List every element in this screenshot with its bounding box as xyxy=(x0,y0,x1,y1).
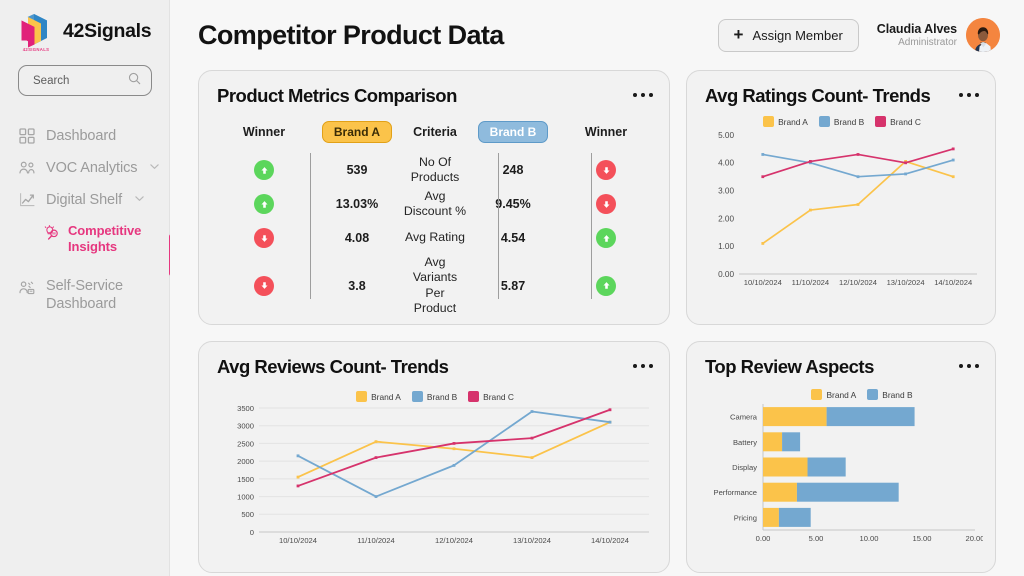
svg-text:2.00: 2.00 xyxy=(718,214,734,223)
sidebar-nav: Dashboard VOC Analytics xyxy=(0,120,169,320)
brand-a-value: 13.03% xyxy=(311,197,403,211)
page-title: Competitor Product Data xyxy=(198,20,718,51)
svg-text:3.00: 3.00 xyxy=(718,187,734,196)
svg-text:20.00: 20.00 xyxy=(965,534,983,543)
avg-reviews-plot: 050010001500200025003000350010/10/202411… xyxy=(217,402,653,552)
top-bar: Competitor Product Data + Assign Member … xyxy=(198,0,1000,70)
legend-label: Brand A xyxy=(826,390,856,400)
brand-b-value: 9.45% xyxy=(467,197,559,211)
brand-b-value: 5.87 xyxy=(467,279,559,293)
winner-right-cell xyxy=(559,160,653,180)
sidebar-item-label: Competitive Insights xyxy=(68,223,161,254)
people-icon xyxy=(18,159,36,177)
chevron-down-icon[interactable] xyxy=(134,192,145,208)
winner-left-cell xyxy=(217,228,311,248)
legend-label: Brand B xyxy=(834,117,864,127)
svg-text:Camera: Camera xyxy=(730,413,758,422)
winner-right-cell xyxy=(559,194,653,214)
legend-swatch xyxy=(468,391,479,402)
svg-text:15.00: 15.00 xyxy=(912,534,931,543)
legend-item[interactable]: Brand C xyxy=(875,116,921,127)
user-name: Claudia Alves xyxy=(877,22,957,36)
arrow-down-icon xyxy=(254,276,274,296)
chart-legend: Brand A Brand B Brand C xyxy=(705,116,979,127)
card-avg-ratings-trends: Avg Ratings Count- Trends Brand A Brand … xyxy=(686,70,996,325)
brand-logo-block: 42SIGNALS 42Signals xyxy=(0,0,169,51)
assign-member-label: Assign Member xyxy=(752,28,842,43)
search-icon xyxy=(128,72,141,90)
comparison-table: Winner Brand A Criteria Brand B Winner xyxy=(217,121,653,301)
search-placeholder: Search xyxy=(33,75,122,87)
svg-text:10/10/2024: 10/10/2024 xyxy=(744,278,782,287)
legend-swatch xyxy=(867,389,878,400)
search-input[interactable]: Search xyxy=(18,65,152,96)
brand-name: 42Signals xyxy=(63,20,151,43)
legend-item[interactable]: Brand A xyxy=(356,391,401,402)
col-criteria: Criteria xyxy=(403,125,467,139)
svg-text:13/10/2024: 13/10/2024 xyxy=(513,536,551,545)
svg-text:2000: 2000 xyxy=(237,457,254,466)
arrow-down-icon xyxy=(596,194,616,214)
col-brand-a: Brand A xyxy=(311,121,403,143)
arrow-up-icon xyxy=(254,160,274,180)
card-title: Avg Ratings Count- Trends xyxy=(705,85,930,107)
winner-left-cell xyxy=(217,194,311,214)
svg-text:0: 0 xyxy=(250,528,254,537)
legend-item[interactable]: Brand A xyxy=(811,389,856,400)
svg-text:Display: Display xyxy=(732,463,757,472)
legend-item[interactable]: Brand B xyxy=(412,391,457,402)
sidebar-item-label: VOC Analytics xyxy=(46,160,137,176)
criteria-label: No Of Products xyxy=(403,155,467,186)
svg-text:10.00: 10.00 xyxy=(859,534,878,543)
legend-swatch xyxy=(819,116,830,127)
app-root: 42SIGNALS 42Signals Search xyxy=(0,0,1024,576)
main-content: Competitor Product Data + Assign Member … xyxy=(170,0,1024,576)
svg-text:2500: 2500 xyxy=(237,439,254,448)
svg-text:Battery: Battery xyxy=(733,438,757,447)
card-top-review-aspects: Top Review Aspects Brand A Brand B 0.005… xyxy=(686,341,996,573)
winner-left-cell xyxy=(217,276,311,296)
chevron-down-icon[interactable] xyxy=(149,160,160,176)
brand-a-value: 539 xyxy=(311,163,403,177)
legend-label: Brand C xyxy=(890,117,921,127)
brand-a-value: 3.8 xyxy=(311,279,403,293)
more-options-icon[interactable] xyxy=(633,356,653,368)
arrow-down-icon xyxy=(596,160,616,180)
legend-swatch xyxy=(875,116,886,127)
svg-text:1.00: 1.00 xyxy=(718,242,734,251)
grid-icon xyxy=(18,127,36,145)
sidebar-item-label: Dashboard xyxy=(46,128,116,144)
svg-text:5.00: 5.00 xyxy=(809,534,824,543)
legend-swatch xyxy=(811,389,822,400)
brand-a-pill[interactable]: Brand A xyxy=(322,121,392,143)
svg-text:500: 500 xyxy=(241,510,254,519)
svg-text:0.00: 0.00 xyxy=(718,270,734,279)
card-product-metrics-comparison: Product Metrics Comparison Winner Brand … xyxy=(198,70,670,325)
svg-text:13/10/2024: 13/10/2024 xyxy=(887,278,925,287)
sidebar-item-digital-shelf[interactable]: Digital Shelf xyxy=(0,184,169,216)
svg-text:10/10/2024: 10/10/2024 xyxy=(279,536,317,545)
criteria-label: Avg Discount % xyxy=(403,189,467,220)
table-header-row: Winner Brand A Criteria Brand B Winner xyxy=(217,121,653,143)
svg-text:3500: 3500 xyxy=(237,404,254,413)
legend-item[interactable]: Brand B xyxy=(819,116,864,127)
legend-swatch xyxy=(763,116,774,127)
line-chart-icon xyxy=(18,191,36,209)
arrow-down-icon xyxy=(254,228,274,248)
legend-item[interactable]: Brand C xyxy=(468,391,514,402)
avg-ratings-plot: 0.001.002.003.004.005.0010/10/202411/10/… xyxy=(705,127,979,292)
table-row: 4.08 Avg Rating 4.54 xyxy=(217,221,653,255)
user-text-block: Claudia Alves Administrator xyxy=(877,22,957,48)
svg-text:Performance: Performance xyxy=(714,488,757,497)
arrow-up-icon xyxy=(596,228,616,248)
logo-icon: 42SIGNALS xyxy=(14,11,54,51)
svg-text:11/10/2024: 11/10/2024 xyxy=(357,536,394,545)
winner-right-cell xyxy=(559,228,653,248)
card-title: Top Review Aspects xyxy=(705,356,874,378)
table-row: 3.8 Avg Variants Per Product 5.87 xyxy=(217,255,653,301)
svg-text:4.00: 4.00 xyxy=(718,159,734,168)
sidebar-item-competitive-insights[interactable]: Competitive Insights xyxy=(0,216,169,261)
legend-swatch xyxy=(356,391,367,402)
legend-item[interactable]: Brand B xyxy=(867,389,912,400)
card-avg-reviews-trends: Avg Reviews Count- Trends Brand A Brand … xyxy=(198,341,670,573)
legend-label: Brand C xyxy=(483,392,514,402)
card-title: Avg Reviews Count- Trends xyxy=(217,356,448,378)
more-options-icon[interactable] xyxy=(633,85,653,97)
arrow-up-icon xyxy=(596,276,616,296)
dashboard-grid: Product Metrics Comparison Winner Brand … xyxy=(198,70,1000,573)
legend-label: Brand B xyxy=(427,392,457,402)
sidebar-item-voc-analytics[interactable]: VOC Analytics xyxy=(0,152,169,184)
svg-text:1500: 1500 xyxy=(237,475,254,484)
svg-text:1000: 1000 xyxy=(237,492,254,501)
legend-label: Brand A xyxy=(778,117,808,127)
sidebar-item-self-service-dashboard[interactable]: Self-Service Dashboard xyxy=(0,271,169,320)
svg-text:3000: 3000 xyxy=(237,422,254,431)
card-header: Avg Reviews Count- Trends xyxy=(217,356,653,378)
legend-swatch xyxy=(412,391,423,402)
card-header: Avg Ratings Count- Trends xyxy=(705,85,979,107)
brand-b-value: 248 xyxy=(467,163,559,177)
criteria-label: Avg Rating xyxy=(403,230,467,245)
legend-label: Brand B xyxy=(882,390,912,400)
col-winner-left: Winner xyxy=(217,125,311,139)
plus-icon: + xyxy=(734,26,744,43)
sidebar-item-label: Self-Service Dashboard xyxy=(46,278,161,313)
more-options-icon[interactable] xyxy=(959,356,979,368)
brand-a-value: 4.08 xyxy=(311,231,403,245)
card-header: Product Metrics Comparison xyxy=(217,85,653,107)
avatar[interactable] xyxy=(966,18,1000,52)
user-profile[interactable]: Claudia Alves Administrator xyxy=(877,18,1000,52)
table-row: 13.03% Avg Discount % 9.45% xyxy=(217,187,653,221)
legend-item[interactable]: Brand A xyxy=(763,116,808,127)
criteria-label: Avg Variants Per Product xyxy=(403,255,467,316)
sidebar-item-label: Digital Shelf xyxy=(46,192,122,208)
svg-text:11/10/2024: 11/10/2024 xyxy=(792,278,829,287)
assign-member-button[interactable]: + Assign Member xyxy=(718,19,859,52)
svg-text:14/10/2024: 14/10/2024 xyxy=(934,278,972,287)
insights-bulb-icon xyxy=(42,224,60,242)
svg-text:0.00: 0.00 xyxy=(756,534,771,543)
table-body: 539 No Of Products 248 xyxy=(217,153,653,301)
self-service-icon xyxy=(18,279,36,297)
logo-caption: 42SIGNALS xyxy=(15,47,57,52)
card-title: Product Metrics Comparison xyxy=(217,85,457,107)
winner-right-cell xyxy=(559,276,653,296)
svg-text:14/10/2024: 14/10/2024 xyxy=(591,536,629,545)
card-header: Top Review Aspects xyxy=(705,356,979,378)
sidebar-item-dashboard[interactable]: Dashboard xyxy=(0,120,169,152)
legend-label: Brand A xyxy=(371,392,401,402)
svg-text:12/10/2024: 12/10/2024 xyxy=(435,536,473,545)
top-review-aspects-plot: 0.005.0010.0015.0020.00CameraBatteryDisp… xyxy=(705,400,979,548)
chart-legend: Brand A Brand B xyxy=(705,389,979,400)
svg-text:Pricing: Pricing xyxy=(734,513,757,522)
svg-text:12/10/2024: 12/10/2024 xyxy=(839,278,877,287)
chart-legend: Brand A Brand B Brand C xyxy=(217,391,653,402)
brand-b-pill[interactable]: Brand B xyxy=(478,121,549,143)
col-brand-b: Brand B xyxy=(467,121,559,143)
winner-left-cell xyxy=(217,160,311,180)
sidebar: 42SIGNALS 42Signals Search xyxy=(0,0,170,576)
brand-b-value: 4.54 xyxy=(467,231,559,245)
svg-text:5.00: 5.00 xyxy=(718,131,734,140)
table-row: 539 No Of Products 248 xyxy=(217,153,653,187)
arrow-up-icon xyxy=(254,194,274,214)
user-role: Administrator xyxy=(877,37,957,48)
more-options-icon[interactable] xyxy=(959,85,979,97)
col-winner-right: Winner xyxy=(559,125,653,139)
